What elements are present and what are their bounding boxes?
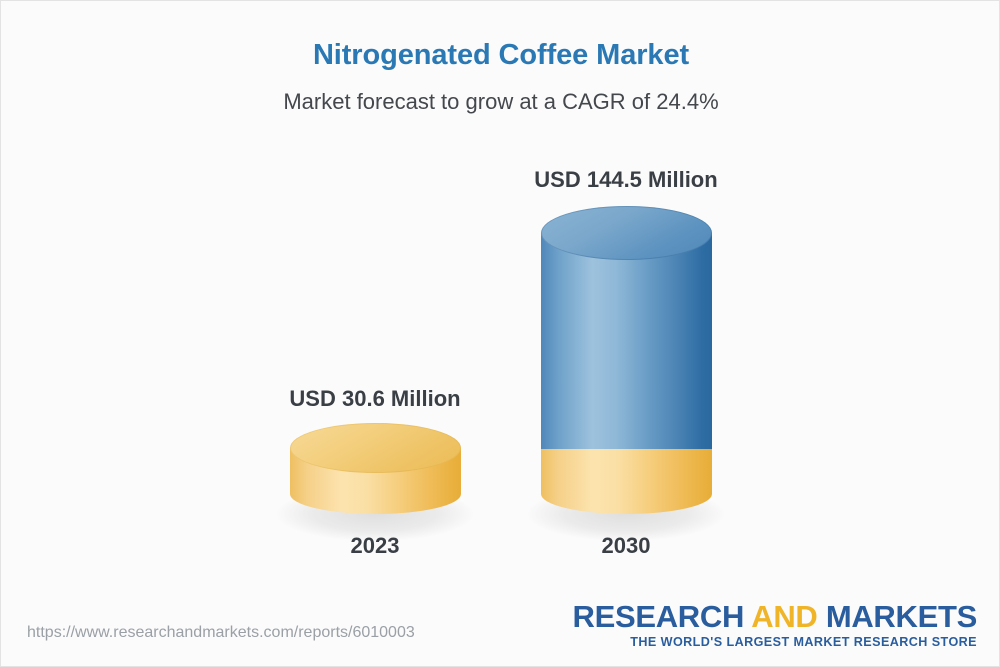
data-label-2030: USD 144.5 Million xyxy=(526,167,726,193)
brand-word-research: RESEARCH xyxy=(573,599,752,634)
bar-2030-yellow-body-fill xyxy=(541,449,712,494)
category-label-2023: 2023 xyxy=(275,533,475,559)
brand-word-and: AND xyxy=(751,599,826,634)
brand-word-markets: MARKETS xyxy=(826,599,977,634)
page-title: Nitrogenated Coffee Market xyxy=(1,39,1000,72)
source-url[interactable]: https://www.researchandmarkets.com/repor… xyxy=(27,624,415,642)
brand-logo: RESEARCH AND MARKETS THE WORLD'S LARGEST… xyxy=(573,601,978,649)
chart-subtitle: Market forecast to grow at a CAGR of 24.… xyxy=(1,89,1000,115)
bar-2023-bottom-cap xyxy=(290,474,461,514)
chart-canvas: Nitrogenated Coffee Market Market foreca… xyxy=(0,0,1000,667)
bar-2030-blue-body xyxy=(541,233,712,449)
data-label-2023: USD 30.6 Million xyxy=(275,386,475,412)
bar-2030-top-cap xyxy=(541,206,712,260)
category-label-2030: 2030 xyxy=(526,533,726,559)
bar-2023-top-cap xyxy=(290,423,461,473)
brand-wordmark: RESEARCH AND MARKETS xyxy=(573,601,978,633)
brand-tagline: THE WORLD'S LARGEST MARKET RESEARCH STOR… xyxy=(573,635,978,649)
